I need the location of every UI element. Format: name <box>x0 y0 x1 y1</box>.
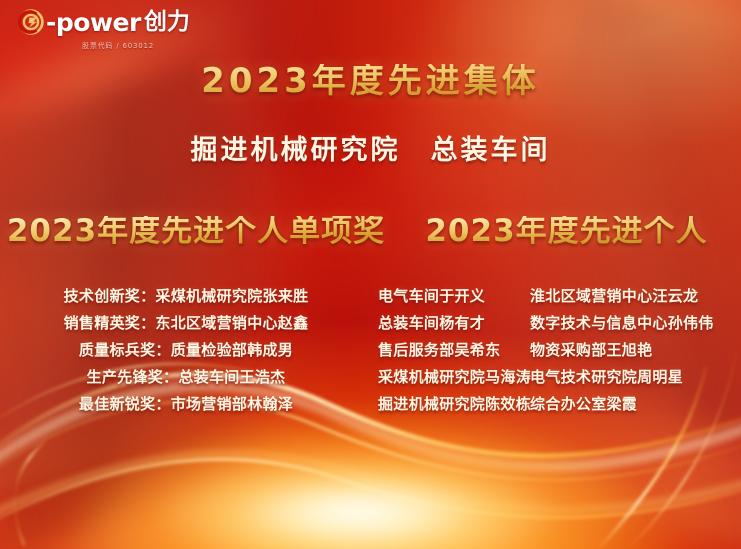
c-power-logo-icon <box>18 9 44 35</box>
list-item: 数字技术与信息中心孙伟伟 <box>530 310 714 337</box>
award-lists: 技术创新奖：采煤机械研究院张来胜 销售精英奖：东北区域营销中心赵鑫 质量标兵奖：… <box>0 283 741 418</box>
logo-wordmark-cn: 创力 <box>144 11 190 34</box>
list-item: 综合办公室梁霞 <box>530 391 714 418</box>
list-item: 技术创新奖：采煤机械研究院张来胜 <box>64 283 309 310</box>
list-item: 淮北区域营销中心汪云龙 <box>530 283 714 310</box>
list-item: 最佳新锐奖：市场营销部林翰泽 <box>79 391 293 418</box>
page-subtitle: 掘进机械研究院 总装车间 <box>0 137 741 164</box>
list-item: 采煤机械研究院马海涛 <box>378 364 530 391</box>
list-item: 质量标兵奖：质量检验部韩成男 <box>79 337 293 364</box>
award-poster: -power 创力 股票代码 / 603012 2023年度先进集体 掘进机械研… <box>0 0 741 549</box>
list-item: 售后服务部吴希东 <box>378 337 530 364</box>
list-item: 生产先锋奖：总装车间王浩杰 <box>87 364 286 391</box>
list-item: 电气技术研究院周明星 <box>530 364 714 391</box>
list-item: 物资采购部王旭艳 <box>530 337 714 364</box>
advanced-individuals-list: 电气车间于开义 总装车间杨有才 售后服务部吴希东 采煤机械研究院马海涛 掘进机械… <box>372 283 741 418</box>
individual-awards-list: 技术创新奖：采煤机械研究院张来胜 销售精英奖：东北区域营销中心赵鑫 质量标兵奖：… <box>0 283 372 418</box>
section-headings: 2023年度先进个人单项奖 2023年度先进个人 <box>0 216 741 247</box>
logo-row: -power 创力 <box>18 9 218 35</box>
company-logo[interactable]: -power 创力 股票代码 / 603012 <box>18 9 218 51</box>
list-item: 销售精英奖：东北区域营销中心赵鑫 <box>64 310 309 337</box>
logo-wordmark: -power <box>46 10 141 35</box>
page-title: 2023年度先进集体 <box>0 64 741 98</box>
heading-individual-special-awards: 2023年度先进个人单项奖 <box>0 216 392 247</box>
list-item: 掘进机械研究院陈效栋 <box>378 391 530 418</box>
advanced-individuals-column-a: 电气车间于开义 总装车间杨有才 售后服务部吴希东 采煤机械研究院马海涛 掘进机械… <box>378 283 530 418</box>
list-item: 总装车间杨有才 <box>378 310 530 337</box>
list-item: 电气车间于开义 <box>378 283 530 310</box>
heading-advanced-individuals: 2023年度先进个人 <box>392 216 741 247</box>
stock-code-label: 股票代码 / 603012 <box>18 41 218 51</box>
advanced-individuals-column-b: 淮北区域营销中心汪云龙 数字技术与信息中心孙伟伟 物资采购部王旭艳 电气技术研究… <box>530 283 714 418</box>
ribbon-core-glow <box>59 399 681 549</box>
